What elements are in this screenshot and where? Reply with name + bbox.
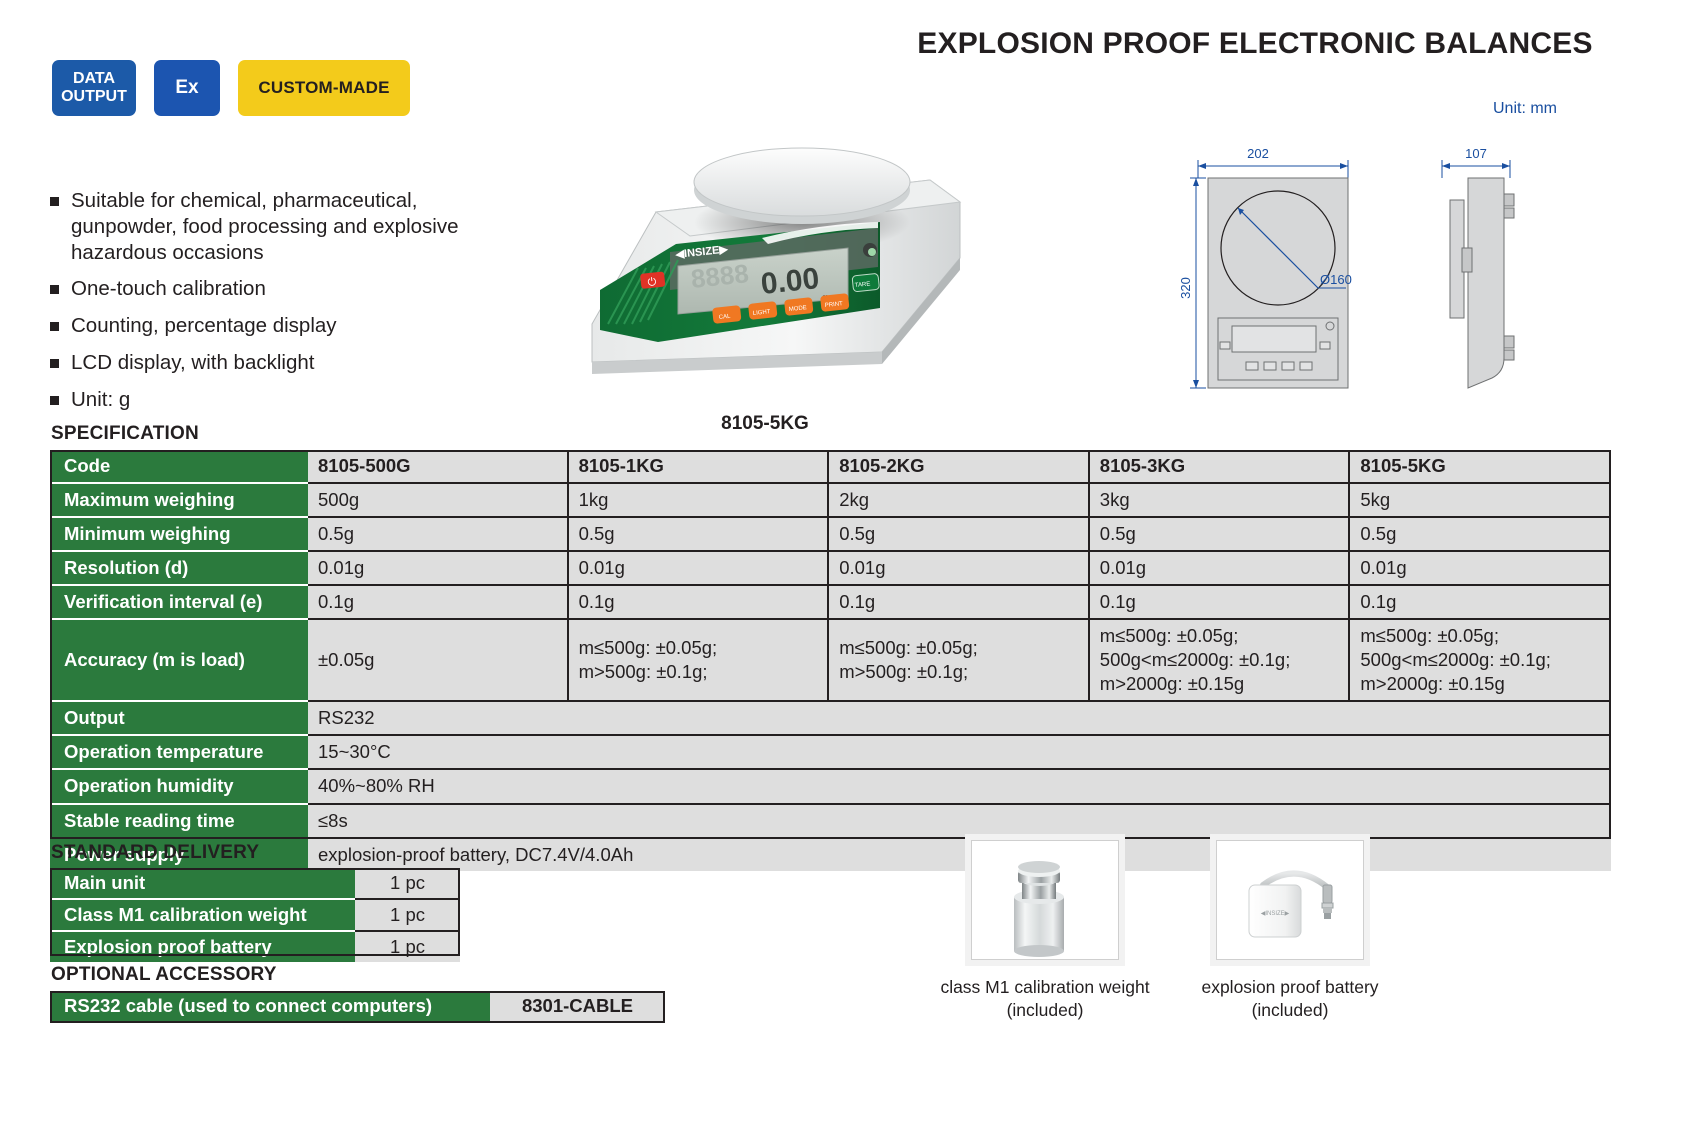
table-row: RS232 cable (used to connect computers) … [50, 991, 665, 1021]
row-value: 2kg [829, 484, 1090, 518]
accuracy-value: m≤500g: ±0.05g; 500g<m≤2000g: ±0.1g; m>2… [1350, 620, 1611, 702]
optional-accessory-title: OPTIONAL ACCESSORY [51, 964, 277, 986]
row-value: RS232 [308, 702, 1611, 736]
accuracy-value: m≤500g: ±0.05g; 500g<m≤2000g: ±0.1g; m>2… [1090, 620, 1351, 702]
page-title: EXPLOSION PROOF ELECTRONIC BALANCES [835, 27, 1675, 61]
table-row: Minimum weighing 0.5g 0.5g 0.5g 0.5g 0.5… [50, 518, 1611, 552]
row-label: Maximum weighing [50, 484, 308, 518]
delivery-item-label: Explosion proof battery [50, 932, 355, 962]
delivery-item-qty: 1 pc [355, 932, 460, 962]
row-label: Minimum weighing [50, 518, 308, 552]
table-row: Verification interval (e) 0.1g 0.1g 0.1g… [50, 586, 1611, 620]
row-value: 8105-500G [308, 450, 569, 484]
battery-image: ◀INSIZE▶ [1216, 840, 1364, 960]
row-value: 3kg [1090, 484, 1351, 518]
table-row: Maximum weighing 500g 1kg 2kg 3kg 5kg [50, 484, 1611, 518]
row-value: 0.1g [308, 586, 569, 620]
delivery-item-label: Main unit [50, 868, 355, 900]
accessory-caption: explosion proof battery (included) [1175, 976, 1405, 1022]
badge-data-output-line2: OUTPUT [61, 88, 127, 106]
product-caption: 8105-5KG [640, 413, 890, 435]
row-value: 0.01g [1350, 552, 1611, 586]
row-value: 5kg [1350, 484, 1611, 518]
delivery-item-qty: 1 pc [355, 900, 460, 932]
dimension-drawings: 202 320 Ø160 107 [1180, 120, 1600, 410]
accuracy-value: m≤500g: ±0.05g; m>500g: ±0.1g; [569, 620, 830, 702]
table-row: Operation humidity 40%~80% RH [50, 770, 1611, 804]
row-value: 0.01g [569, 552, 830, 586]
row-value: 8105-1KG [569, 450, 830, 484]
feature-text: LCD display, with backlight [71, 350, 314, 376]
row-value: 500g [308, 484, 569, 518]
row-label: Resolution (d) [50, 552, 308, 586]
feature-item: Unit: g [50, 387, 480, 413]
row-value: 8105-5KG [1350, 450, 1611, 484]
row-value: 40%~80% RH [308, 770, 1611, 804]
badge-data-output: DATA OUTPUT [52, 60, 136, 116]
optional-accessory-table: RS232 cable (used to connect computers) … [50, 991, 665, 1021]
dim-width-202: 202 [1247, 146, 1269, 161]
table-row: Operation temperature 15~30°C [50, 736, 1611, 770]
feature-list: Suitable for chemical, pharmaceutical, g… [50, 188, 480, 424]
feature-item: LCD display, with backlight [50, 350, 480, 376]
row-value: 0.01g [829, 552, 1090, 586]
row-value: 8105-2KG [829, 450, 1090, 484]
accuracy-value: m≤500g: ±0.05g; m>500g: ±0.1g; [829, 620, 1090, 702]
badge-row: DATA OUTPUT Ex CUSTOM-MADE [52, 60, 410, 116]
svg-text:8888: 8888 [689, 258, 750, 294]
accessory-explosion-proof-battery: ◀INSIZE▶ explosion proof battery (includ… [1175, 840, 1405, 1022]
row-label: Operation temperature [50, 736, 308, 770]
table-row-accuracy: Accuracy (m is load) ±0.05g m≤500g: ±0.0… [50, 620, 1611, 702]
row-label-accuracy: Accuracy (m is load) [50, 620, 308, 702]
svg-text:0.00: 0.00 [759, 262, 821, 301]
svg-text:⏻: ⏻ [647, 276, 657, 289]
feature-item: Counting, percentage display [50, 313, 480, 339]
row-value: 0.01g [308, 552, 569, 586]
feature-text: Counting, percentage display [71, 313, 337, 339]
row-value: 0.5g [829, 518, 1090, 552]
specification-title: SPECIFICATION [51, 423, 199, 445]
row-value: 8105-3KG [1090, 450, 1351, 484]
row-value: 1kg [569, 484, 830, 518]
delivery-item-label: Class M1 calibration weight [50, 900, 355, 932]
table-row: Stable reading time ≤8s [50, 805, 1611, 839]
bullet-icon [50, 285, 59, 294]
table-row: Resolution (d) 0.01g 0.01g 0.01g 0.01g 0… [50, 552, 1611, 586]
table-row: Main unit 1 pc [50, 868, 460, 900]
dim-height-320: 320 [1180, 277, 1193, 299]
bullet-icon [50, 359, 59, 368]
row-value: 0.1g [829, 586, 1090, 620]
accuracy-value: ±0.05g [308, 620, 569, 702]
calibration-weight-image [971, 840, 1119, 960]
row-value: 15~30°C [308, 736, 1611, 770]
feature-item: One-touch calibration [50, 276, 480, 302]
table-row: Output RS232 [50, 702, 1611, 736]
row-value: 0.01g [1090, 552, 1351, 586]
bullet-icon [50, 322, 59, 331]
row-label: Code [50, 450, 308, 484]
accessory-caption: class M1 calibration weight (included) [930, 976, 1160, 1022]
bullet-icon [50, 396, 59, 405]
row-label: Verification interval (e) [50, 586, 308, 620]
table-row: Code 8105-500G 8105-1KG 8105-2KG 8105-3K… [50, 450, 1611, 484]
feature-text: Suitable for chemical, pharmaceutical, g… [71, 188, 480, 265]
specification-table: Code 8105-500G 8105-1KG 8105-2KG 8105-3K… [50, 450, 1611, 871]
accessory-calibration-weight: class M1 calibration weight (included) [930, 840, 1160, 1022]
row-value: ≤8s [308, 805, 1611, 839]
bullet-icon [50, 197, 59, 206]
table-row: Class M1 calibration weight 1 pc [50, 900, 460, 932]
delivery-item-qty: 1 pc [355, 868, 460, 900]
row-value: 0.5g [569, 518, 830, 552]
badge-custom-made: CUSTOM-MADE [238, 60, 410, 116]
optional-item-code: 8301-CABLE [490, 991, 665, 1021]
row-value: 0.5g [1350, 518, 1611, 552]
svg-text:CAL: CAL [719, 314, 732, 321]
row-label: Operation humidity [50, 770, 308, 804]
row-value: 0.1g [1350, 586, 1611, 620]
standard-delivery-title: STANDARD DELIVERY [51, 842, 259, 864]
feature-text: Unit: g [71, 387, 130, 413]
dim-side-107: 107 [1465, 146, 1487, 161]
unit-label: Unit: mm [1493, 100, 1557, 118]
row-value: 0.5g [308, 518, 569, 552]
row-value: 0.5g [1090, 518, 1351, 552]
product-photo: ◀INSIZE▶ 0.00 g 8888 ⏻ TARE CAL LIGHT MO… [530, 62, 1000, 432]
feature-item: Suitable for chemical, pharmaceutical, g… [50, 188, 480, 265]
dim-pan-diameter: Ø160 [1320, 272, 1352, 287]
badge-ex: Ex [154, 60, 220, 116]
standard-delivery-table: Main unit 1 pc Class M1 calibration weig… [50, 868, 460, 962]
badge-data-output-line1: DATA [61, 70, 127, 88]
row-label: Stable reading time [50, 805, 308, 839]
row-label: Output [50, 702, 308, 736]
table-row: Explosion proof battery 1 pc [50, 932, 460, 962]
feature-text: One-touch calibration [71, 276, 266, 302]
svg-text:◀INSIZE▶: ◀INSIZE▶ [1261, 911, 1290, 917]
row-value: 0.1g [569, 586, 830, 620]
row-value: 0.1g [1090, 586, 1351, 620]
optional-item-label: RS232 cable (used to connect computers) [50, 991, 490, 1021]
